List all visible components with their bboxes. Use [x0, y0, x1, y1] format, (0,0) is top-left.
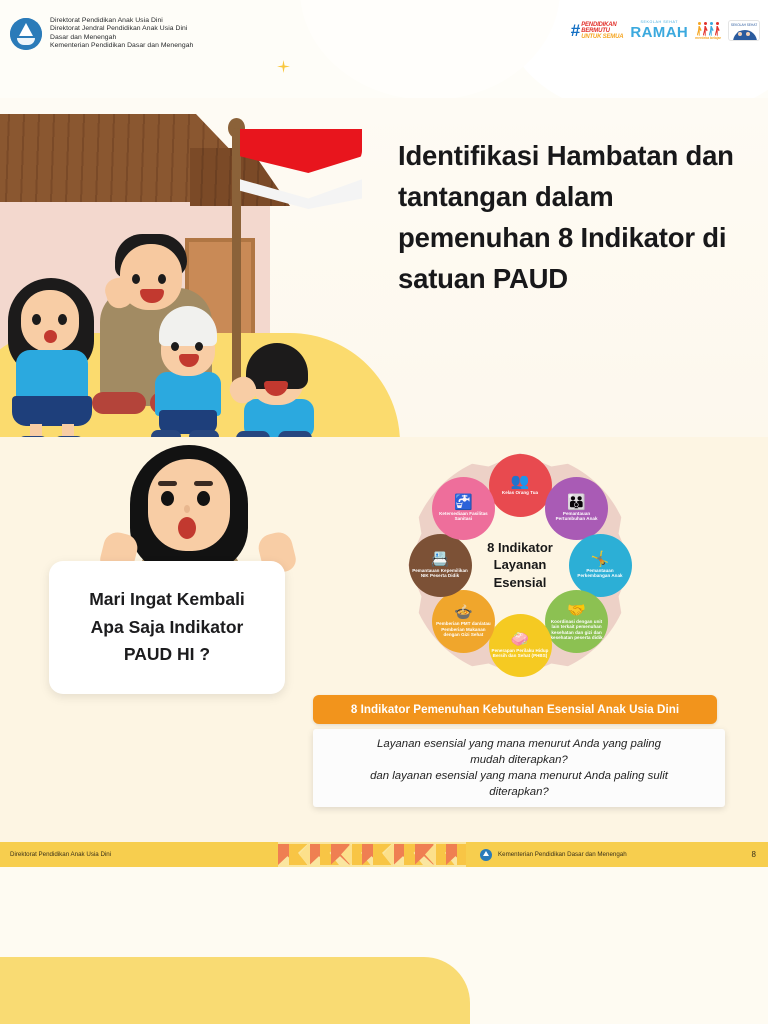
hash-icon: # [571, 22, 579, 39]
org-line-4: Kementerian Pendidikan Dasar dan Menenga… [50, 42, 193, 50]
wheel-node-label: Koordinasi dengan unit lain terkait peme… [548, 619, 605, 641]
header-decor-blob-2 [300, 0, 560, 98]
wheel-node-3[interactable]: 🤸Pemantauan Perkembangan Anak [569, 534, 632, 597]
question-line-1: Layanan esensial yang mana menurut Anda … [370, 736, 668, 752]
wheel-node-7[interactable]: 📇Pemantauan Kepemilikan NIK Peserta Didi… [409, 534, 472, 597]
healthy-meal-bowl-icon: 🍲 [454, 605, 473, 620]
footer-left-label: Direktorat Pendidikan Anak Usia Dini [0, 851, 278, 858]
child-growth-measure-icon: 👪 [567, 495, 586, 510]
ministry-org-text: Direktorat Pendidikan Anak Usia Dini Dir… [50, 16, 193, 50]
wheel-node-label: Pemantauan Perkembangan Anak [572, 568, 629, 579]
merdeka-belajar-logo: merdeka belajar [695, 20, 721, 40]
ministry-logo-lockup: Direktorat Pendidikan Anak Usia Dini Dir… [10, 16, 193, 50]
wheel-node-1[interactable]: 👥Kelas Orang Tua [489, 454, 552, 517]
kemendikbud-seal-icon [480, 849, 492, 861]
boy-with-cap-figure [145, 306, 241, 436]
pendidikan-bermutu-untuk-semua-logo: # PENDIDIKAN BERMUTU UNTUK SEMUA [571, 22, 624, 40]
wheel-node-label: Penerapan Perilaku Hidup Bersih dan Seha… [492, 648, 549, 659]
sanitation-faucet-icon: 🚰 [454, 495, 473, 510]
hero-section: Identifikasi Hambatan dan tantangan dala… [0, 98, 768, 437]
content-section: Mari Ingat Kembali Apa Saja Indikator PA… [0, 437, 768, 842]
wheel-center-line-2: Layanan [487, 556, 553, 573]
recall-question-card: Mari Ingat Kembali Apa Saja Indikator PA… [49, 561, 285, 694]
footer-decorative-pattern [278, 842, 466, 867]
org-line-3: Dasar dan Menengah [50, 34, 193, 42]
question-line-2: mudah diterapkan? [370, 752, 668, 768]
wheel-node-4[interactable]: 🤝Koordinasi dengan unit lain terkait pem… [545, 590, 608, 653]
kemendikbud-seal-icon [10, 18, 42, 50]
eight-indicators-wheel-diagram: 8 Indikator Layanan Esensial 👥Kelas Oran… [392, 437, 648, 693]
recall-line-2: Apa Saja Indikator [89, 614, 245, 642]
wheel-center-line-3: Esensial [487, 574, 553, 591]
people-figures-icon [697, 20, 720, 36]
footer-right-group: Kementerian Pendidikan Dasar dan Menenga… [466, 849, 752, 861]
badge-face-left-icon [737, 31, 743, 37]
wheel-node-label: Ketersediaan Fasilitas Sanitasi [435, 511, 492, 522]
merdeka-belajar-caption: merdeka belajar [695, 37, 721, 40]
recall-line-3: PAUD HI ? [89, 641, 245, 669]
sekolah-sehat-caption: SEKOLAH SEHAT [729, 23, 759, 27]
wheel-node-2[interactable]: 👪Pemantauan Pertumbuhan Anak [545, 477, 608, 540]
wheel-node-label: Pemantauan Pertumbuhan Anak [548, 511, 605, 522]
paud-teacher-and-children-illustration [0, 98, 370, 437]
handwashing-icon: 🧼 [511, 632, 530, 647]
boy-sitting-figure [232, 343, 332, 437]
footer-right-label: Kementerian Pendidikan Dasar dan Menenga… [498, 851, 627, 858]
page-title: Identifikasi Hambatan dan tantangan dala… [398, 136, 748, 300]
wheel-center-line-1: 8 Indikator [487, 539, 553, 556]
wheel-node-label: Pemberian PMT dan/atau Pemberian Makanan… [435, 621, 492, 637]
handshake-coordination-icon: 🤝 [567, 603, 586, 618]
sekolah-sehat-badge-logo: SEKOLAH SEHAT [728, 20, 760, 41]
bottom-yellow-shape [0, 957, 470, 1024]
badge-face-right-icon [745, 31, 751, 37]
child-development-icon: 🤸 [591, 552, 610, 567]
indicators-banner-label: 8 Indikator Pemenuhan Kebutuhan Esensial… [351, 703, 679, 716]
ramah-logo: SEKOLAH SEHAT RAMAH [630, 21, 688, 40]
wheel-node-label: Pemantauan Kepemilikan NIK Peserta Didik [412, 568, 469, 579]
slide-page: Direktorat Pendidikan Anak Usia Dini Dir… [0, 0, 768, 1024]
slide-footer: Direktorat Pendidikan Anak Usia Dini Kem… [0, 842, 768, 867]
ramah-wordmark: RAMAH [630, 25, 688, 40]
wheel-node-5[interactable]: 🧼Penerapan Perilaku Hidup Bersih dan Seh… [489, 614, 552, 677]
indicators-banner: 8 Indikator Pemenuhan Kebutuhan Esensial… [313, 695, 717, 724]
wheel-node-6[interactable]: 🍲Pemberian PMT dan/atau Pemberian Makana… [432, 590, 495, 653]
page-number: 8 [752, 850, 768, 859]
parents-group-icon: 👥 [511, 474, 530, 489]
question-line-3: dan layanan esensial yang mana menurut A… [370, 768, 668, 784]
id-card-nik-icon: 📇 [431, 552, 450, 567]
recall-line-1: Mari Ingat Kembali [89, 586, 245, 614]
bottom-background [0, 867, 768, 1024]
org-line-2: Direktorat Jendral Pendidikan Anak Usia … [50, 25, 193, 33]
header-band: Direktorat Pendidikan Anak Usia Dini Dir… [0, 0, 768, 98]
wheel-node-label: Kelas Orang Tua [502, 490, 538, 495]
indonesia-flag-icon [240, 129, 362, 217]
pbus-line-3: UNTUK SEMUA [581, 34, 623, 40]
discussion-question-box: Layanan esensial yang mana menurut Anda … [313, 729, 725, 807]
question-line-4: diterapkan? [370, 784, 668, 800]
footer-pattern-shape [457, 844, 467, 865]
wheel-node-8[interactable]: 🚰Ketersediaan Fasilitas Sanitasi [432, 477, 495, 540]
org-line-1: Direktorat Pendidikan Anak Usia Dini [50, 17, 193, 25]
partner-logo-strip: # PENDIDIKAN BERMUTU UNTUK SEMUA SEKOLAH… [571, 20, 760, 41]
